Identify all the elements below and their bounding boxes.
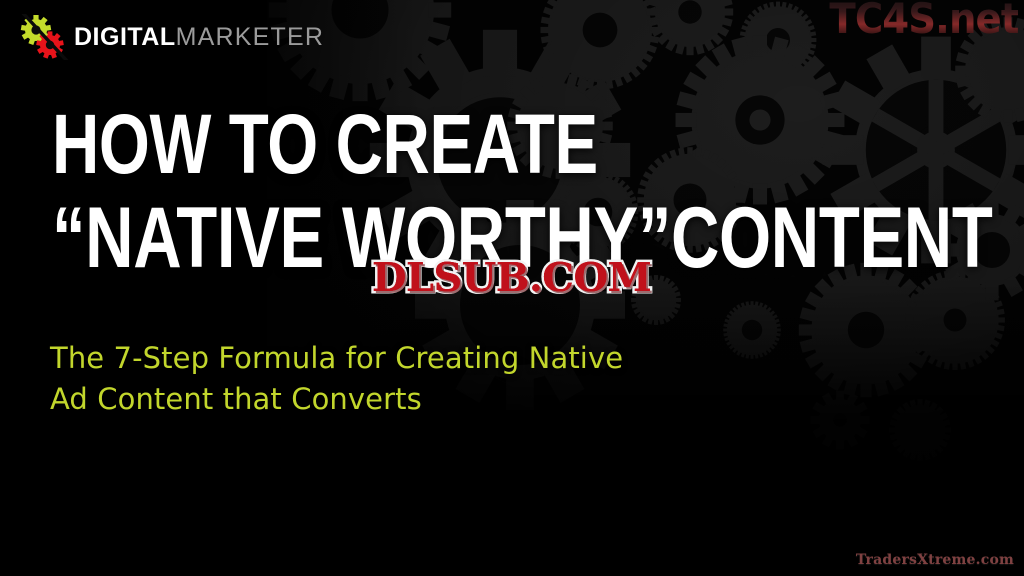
brand-logo[interactable]: DIGITALMARKETER xyxy=(16,14,324,60)
brand-logo-wordmark: DIGITALMARKETER xyxy=(74,25,324,50)
presentation-slide: DIGITALMARKETER HOW TO CREATE “NATIVE WO… xyxy=(0,0,1024,576)
gear-tiny-top xyxy=(647,0,733,55)
watermark-dlsub-outline: DLSUB.COM xyxy=(372,259,651,298)
gears-logo-icon xyxy=(16,14,72,60)
logo-text-marketer: MARKETER xyxy=(176,23,325,51)
subtitle-line-1: The 7-Step Formula for Creating Native xyxy=(50,338,623,379)
gear-lower-right-4 xyxy=(889,399,950,460)
slide-subtitle: The 7-Step Formula for Creating Native A… xyxy=(50,338,623,420)
subtitle-line-2: Ad Content that Converts xyxy=(50,379,623,420)
left-fade-overlay xyxy=(0,0,420,576)
logo-text-digital: DIGITAL xyxy=(74,23,176,51)
watermark-tradersxtreme: TradersXtreme.com xyxy=(856,552,1014,568)
gear-tiny-top-2 xyxy=(740,2,817,79)
bottom-fade-overlay xyxy=(0,276,1024,576)
watermark-tc4s: TC4S.net xyxy=(829,0,1018,40)
headline-line-1: HOW TO CREATE xyxy=(52,104,992,185)
gear-lower-right-5 xyxy=(723,301,781,359)
gear-small-top xyxy=(540,0,659,90)
gear-lower-right-2 xyxy=(811,391,870,450)
